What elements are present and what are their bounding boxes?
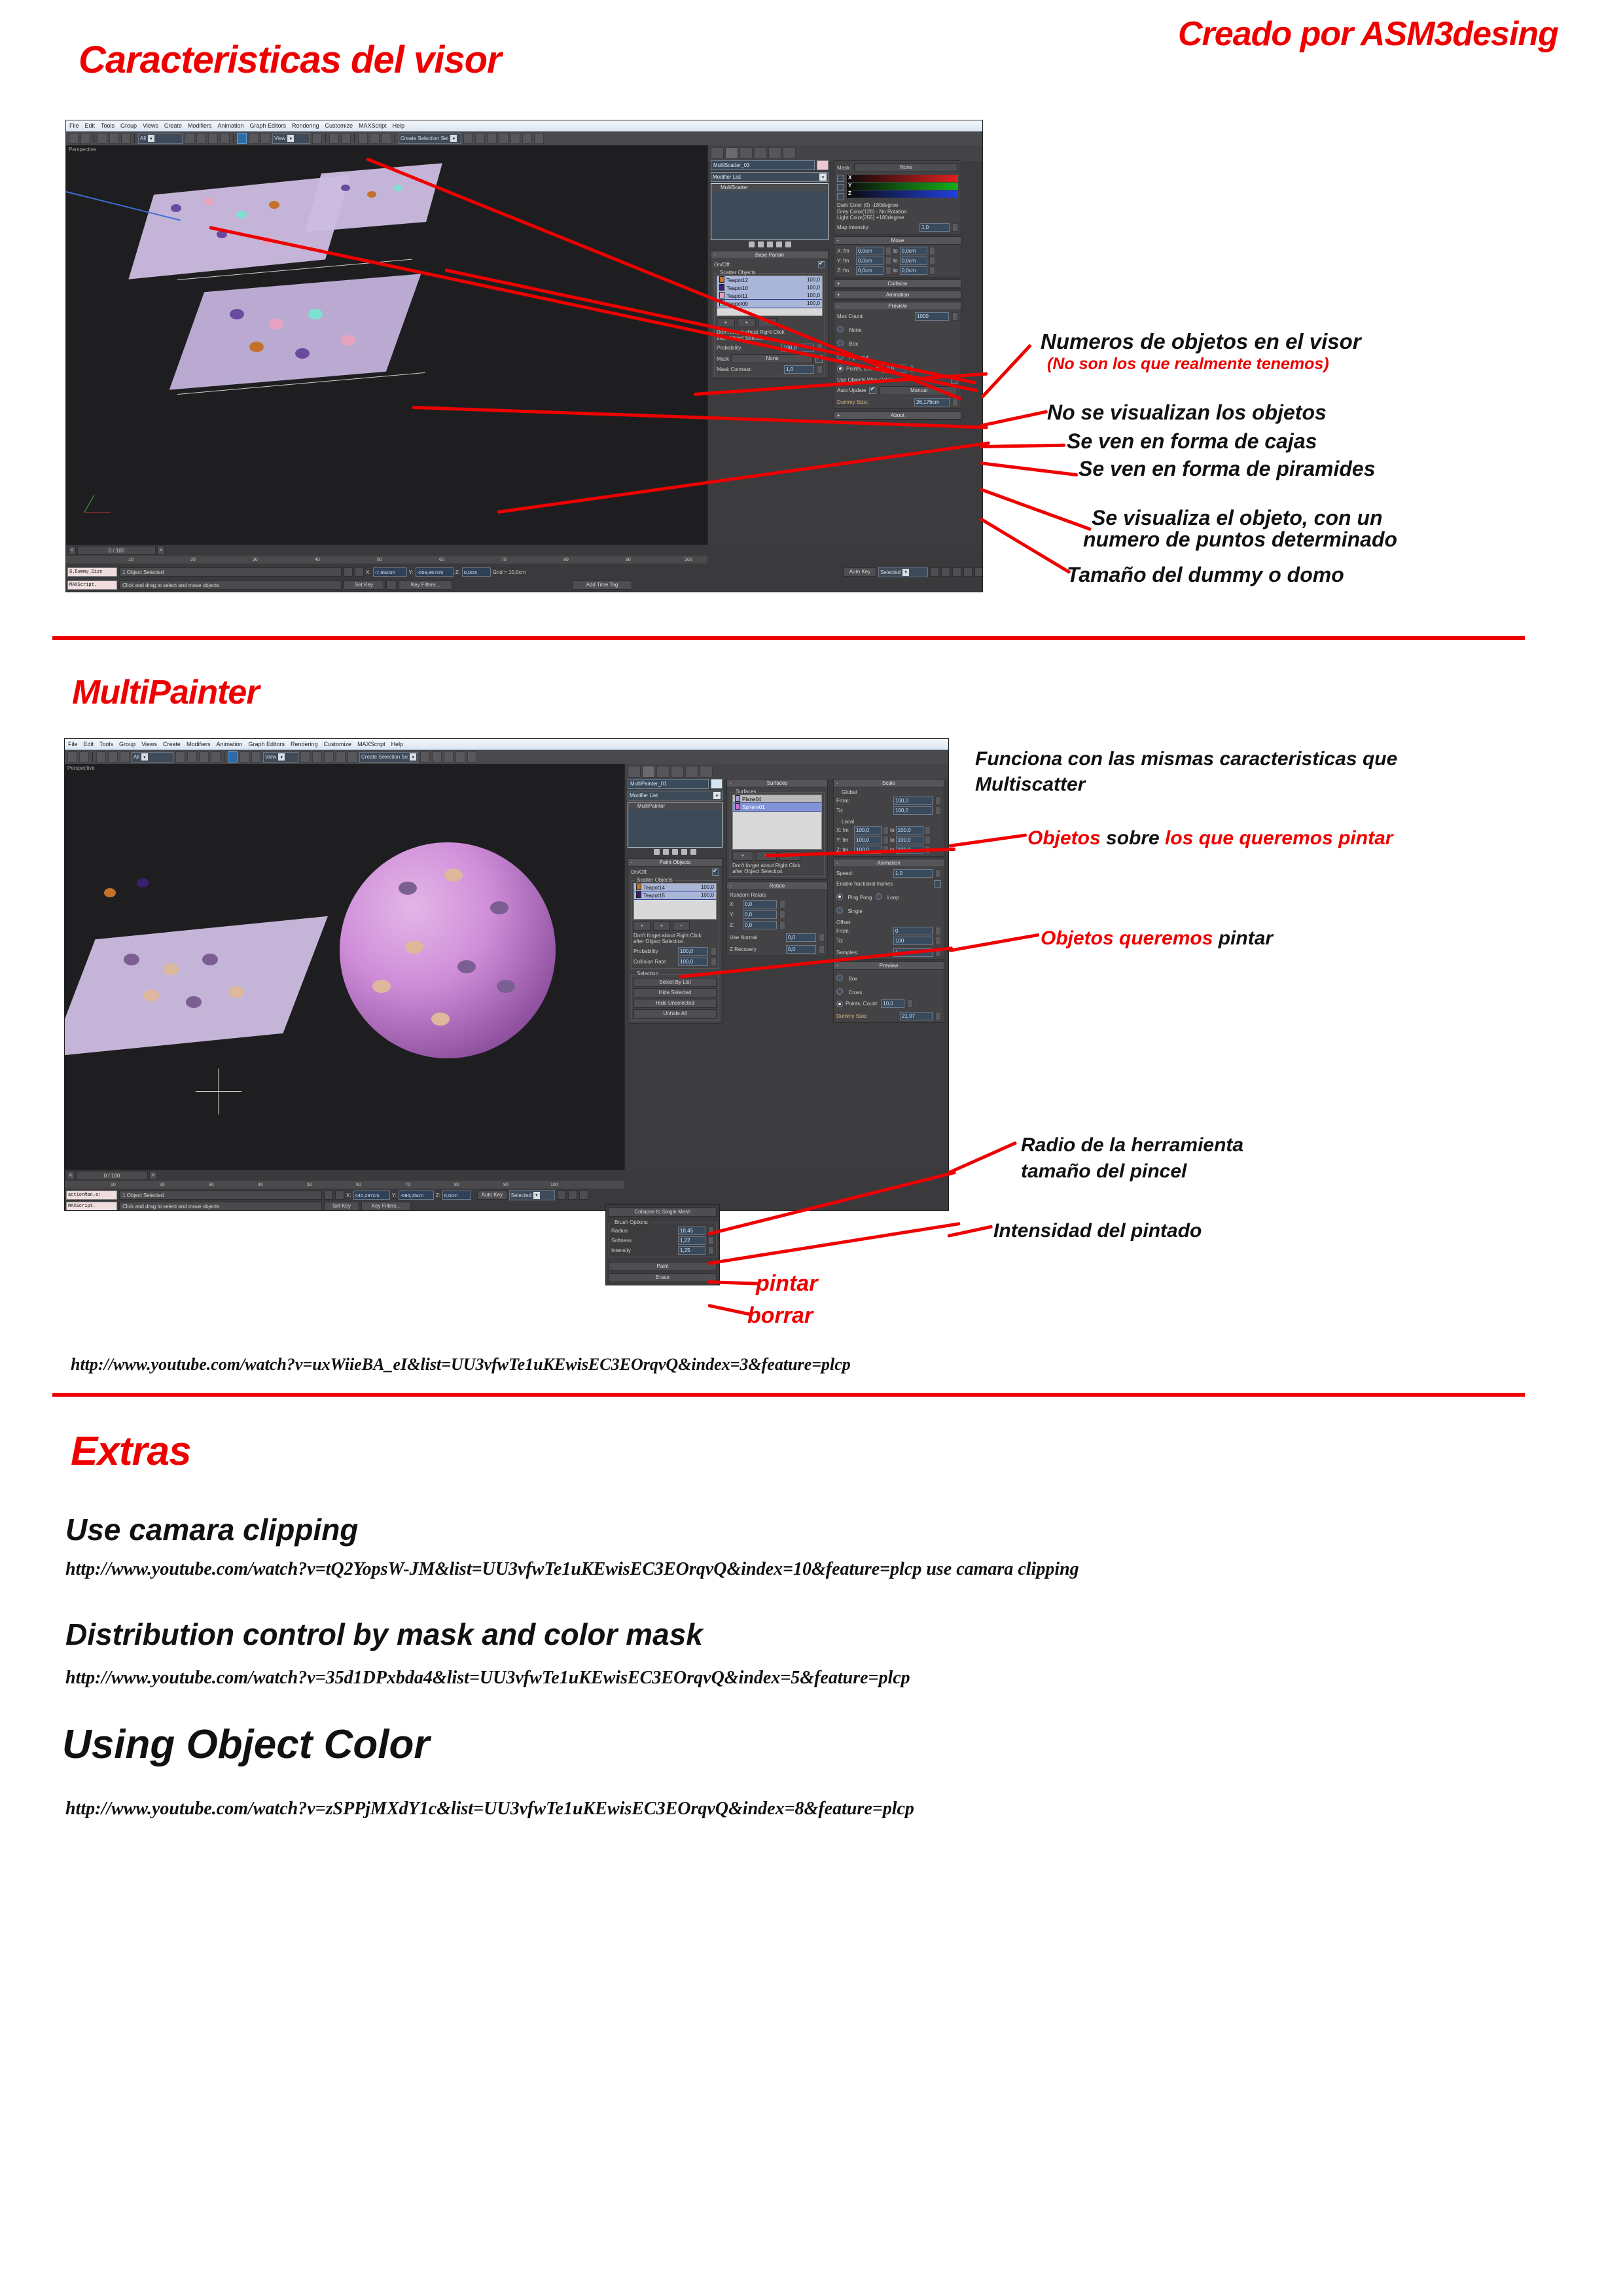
menubar-shot1[interactable]: File Edit Tools Group Views Create Modif… (66, 120, 982, 132)
scale-y-from[interactable]: 100,0 (854, 836, 882, 844)
rollout-header-animation[interactable]: + Animation (834, 291, 961, 299)
coord-z-field[interactable]: 0,0cm (442, 1191, 471, 1200)
viewport-perspective-shot2[interactable]: Perspective (65, 764, 624, 1170)
absolute-relative-icon[interactable] (355, 567, 364, 577)
layer-manager-icon[interactable] (463, 133, 473, 144)
show-end-result-icon[interactable] (758, 242, 764, 247)
rollout-header-animation[interactable]: - Animation (834, 859, 944, 867)
lock-selection-icon[interactable] (344, 567, 353, 577)
menu-file[interactable]: File (68, 741, 78, 747)
rollout-header-collision[interactable]: + Collision (834, 280, 961, 288)
timeline-shot1[interactable]: < 0 / 100 > 10 20 30 40 50 60 70 80 90 1… (66, 545, 707, 566)
preview-none-radio[interactable] (837, 326, 844, 332)
make-unique-icon[interactable] (672, 849, 678, 855)
modifier-stack[interactable]: MultiPainter (628, 802, 722, 848)
next-key-icon[interactable] (963, 567, 972, 577)
key-mode-combo[interactable]: Selected ▾ (509, 1190, 555, 1200)
mask-rot-map-button[interactable]: None (854, 163, 958, 172)
chevron-down-icon[interactable]: ▾ (450, 135, 457, 142)
menu-group[interactable]: Group (120, 122, 137, 129)
prev-key-icon[interactable] (941, 567, 950, 577)
select-and-scale-icon[interactable] (260, 133, 270, 144)
scale-global-from[interactable]: 100,0 (893, 797, 933, 805)
set-key-button[interactable]: Set Key (324, 1202, 359, 1211)
radius-field[interactable]: 18,45 (678, 1227, 705, 1235)
window-crossing-icon[interactable] (211, 751, 221, 762)
main-toolbar-shot1[interactable]: All ▾ View ▾ Create S (66, 132, 982, 146)
rollout-collapse-icon[interactable]: - (836, 860, 838, 866)
extras-url-2[interactable]: http://www.youtube.com/watch?v=35d1DPxbd… (65, 1668, 910, 1689)
object-name-field[interactable]: MultiPainter_01 (628, 779, 709, 789)
select-object-icon[interactable] (175, 751, 185, 762)
curve-editor-icon[interactable] (475, 133, 485, 144)
redo-icon[interactable] (80, 133, 90, 144)
pin-stack-icon[interactable] (749, 242, 755, 247)
modifier-list-dropdown[interactable]: Modifier List ▾ (628, 791, 722, 800)
rotate-z-spinner[interactable] (779, 921, 785, 929)
next-frame-button[interactable]: > (157, 546, 165, 555)
menu-create[interactable]: Create (163, 741, 181, 747)
rollout-rotate[interactable]: - Rotate Random Rotate X: 0,0 Y: 0,0 (726, 882, 828, 956)
add-list-button[interactable]: + (738, 318, 756, 327)
selection-filter-combo[interactable]: All ▾ (132, 752, 173, 762)
configure-sets-icon[interactable] (785, 242, 791, 247)
menu-tools[interactable]: Tools (99, 741, 113, 747)
rollout-paint-objects[interactable]: - Paint Objects On/Off: Scatter Objects (628, 858, 722, 1024)
hide-unselected-button[interactable]: Hide Unselected (633, 999, 717, 1008)
command-panel-tabs[interactable] (708, 145, 983, 161)
menu-tools[interactable]: Tools (101, 122, 115, 129)
use-normal-field[interactable]: 0,0 (786, 933, 816, 942)
points-count-spinner[interactable] (907, 999, 913, 1008)
render-production-icon[interactable] (534, 133, 544, 144)
chevron-down-icon[interactable]: ▾ (819, 173, 827, 181)
rollout-collapse-icon[interactable]: - (837, 303, 839, 309)
menu-graph-editors[interactable]: Graph Editors (248, 741, 285, 747)
rollout-collapse-icon[interactable]: - (730, 780, 732, 786)
collision-rate-spinner[interactable] (711, 958, 717, 966)
redo-icon[interactable] (79, 751, 89, 762)
create-tab-icon[interactable] (628, 766, 641, 778)
pivot-center-icon[interactable] (312, 133, 322, 144)
chevron-down-icon[interactable]: ▾ (902, 569, 909, 576)
intensity-field[interactable]: 1,25 (678, 1246, 705, 1255)
preview-cross-radio[interactable] (836, 988, 843, 995)
pivot-center-icon[interactable] (300, 751, 310, 762)
scale-x-to[interactable]: 100,0 (896, 826, 923, 834)
unlink-icon[interactable] (109, 133, 119, 144)
bind-space-warp-icon[interactable] (120, 751, 130, 762)
coord-x-field[interactable]: 440,297cm (353, 1191, 390, 1200)
render-frame-icon[interactable] (522, 133, 532, 144)
softness-field[interactable]: 1,22 (678, 1236, 705, 1245)
named-selection-set-combo[interactable]: Create Selection Set ▾ (359, 752, 418, 762)
probability-field[interactable]: 100,0 (678, 947, 708, 956)
rollout-about[interactable]: + About (834, 411, 961, 420)
key-mode-combo[interactable]: Selected ▾ (878, 567, 928, 577)
maxscript-mini-listener[interactable]: $.Dummy_Size (67, 567, 117, 577)
menu-modifiers[interactable]: Modifiers (187, 741, 211, 747)
speed-spinner[interactable] (935, 869, 941, 878)
auto-key-button[interactable]: Auto Key (844, 567, 876, 577)
rollout-expand-icon[interactable]: + (837, 292, 840, 298)
go-to-end-icon[interactable] (974, 567, 983, 577)
max-count-field[interactable]: 1000 (915, 312, 949, 321)
curve-editor-icon[interactable] (432, 751, 442, 762)
menu-rendering[interactable]: Rendering (291, 741, 318, 747)
undo-icon[interactable] (67, 751, 77, 762)
configure-sets-icon[interactable] (690, 849, 696, 855)
rollout-collapse-icon[interactable]: - (730, 883, 732, 889)
select-and-rotate-icon[interactable] (249, 133, 259, 144)
timeline-shot2[interactable]: < 0 / 100 > 10 20 30 40 50 60 70 80 90 1… (65, 1170, 624, 1190)
undo-icon[interactable] (69, 133, 79, 144)
move-z-to-spinner[interactable] (929, 266, 935, 275)
select-and-scale-icon[interactable] (251, 751, 261, 762)
rollout-header-about[interactable]: + About (834, 412, 961, 420)
onoff-checkbox[interactable] (818, 261, 825, 268)
anim-offset-from-spinner[interactable] (935, 927, 941, 935)
list-item[interactable]: Teapot14 100,0 (634, 884, 716, 891)
snap-toggle-icon[interactable] (312, 751, 322, 762)
menu-create[interactable]: Create (164, 122, 182, 129)
object-color-swatch[interactable] (817, 160, 829, 170)
menu-edit[interactable]: Edit (84, 741, 94, 747)
anim-offset-from[interactable]: 0 (893, 927, 933, 935)
select-by-name-icon[interactable] (187, 751, 197, 762)
selection-filter-combo[interactable]: All ▾ (138, 134, 183, 144)
schematic-view-icon[interactable] (487, 133, 497, 144)
preview-box-radio[interactable] (837, 340, 844, 346)
add-object-button[interactable]: + (717, 318, 735, 327)
onoff-checkbox[interactable] (712, 869, 719, 876)
next-frame-button[interactable]: > (149, 1171, 157, 1180)
auto-update-checkbox[interactable] (869, 387, 876, 394)
preview-points-radio[interactable] (836, 1001, 843, 1007)
prev-frame-button[interactable]: < (68, 546, 76, 555)
speed-field[interactable]: 1,0 (893, 869, 933, 878)
scale-y-to-spinner[interactable] (925, 836, 931, 844)
absolute-relative-icon[interactable] (335, 1191, 344, 1200)
rollout-header-base-param[interactable]: - Base Param (711, 251, 828, 259)
rollout-collapse-icon[interactable]: - (714, 252, 716, 258)
dummy-size-field[interactable]: 26,176cm (914, 398, 950, 406)
add-list-button[interactable]: + (653, 922, 670, 931)
menu-graph-editors[interactable]: Graph Editors (249, 122, 286, 129)
rollout-move[interactable]: - Move X: fm 0,0cm to 0,0cm (834, 236, 961, 278)
menu-file[interactable]: File (69, 122, 79, 129)
single-radio[interactable] (836, 907, 843, 914)
rollout-scale[interactable]: - Scale Global From: 100,0 To: 100,0 (833, 779, 944, 857)
anim-offset-to-spinner[interactable] (935, 937, 941, 945)
chevron-down-icon[interactable]: ▾ (533, 1192, 540, 1199)
modifier-stack-toolbar[interactable] (628, 848, 722, 856)
modify-tab-icon[interactable] (642, 766, 655, 778)
coord-y-field[interactable]: -659,967cm (416, 567, 454, 577)
scale-x-from[interactable]: 100,0 (854, 826, 882, 834)
rollout-collapse-icon[interactable]: - (836, 780, 838, 786)
rollout-collision[interactable]: + Collision (834, 279, 961, 289)
add-surface-button[interactable]: + (732, 852, 753, 861)
softness-spinner[interactable] (708, 1236, 714, 1245)
hide-selected-button[interactable]: Hide Selected (633, 988, 717, 997)
mirror-icon[interactable] (336, 751, 346, 762)
loop-radio[interactable] (876, 893, 882, 900)
preview-box-radio[interactable] (836, 975, 843, 981)
move-z-from[interactable]: 0,0cm (856, 266, 883, 275)
rollout-animation[interactable]: + Animation (834, 291, 961, 300)
utilities-tab-icon[interactable] (700, 766, 713, 778)
dummy-size-spinner[interactable] (935, 1012, 941, 1020)
scatter-objects-list[interactable]: Teapot12 100,0 Teapot10 100,0 Teapot11 1… (717, 276, 823, 316)
key-filters-icon[interactable] (386, 581, 397, 590)
use-normal-spinner[interactable] (819, 933, 825, 942)
menu-customize[interactable]: Customize (325, 122, 353, 129)
scale-x-from-spinner[interactable] (883, 826, 889, 834)
move-x-to[interactable]: 0,0cm (900, 247, 927, 255)
rollout-header-preview[interactable]: - Preview (834, 302, 961, 310)
extras-url-3[interactable]: http://www.youtube.com/watch?v=zSPPjMXdY… (65, 1799, 914, 1820)
render-setup-icon[interactable] (455, 751, 465, 762)
menu-customize[interactable]: Customize (324, 741, 352, 747)
video-url-multipainter[interactable]: http://www.youtube.com/watch?v=uxWiieBA_… (71, 1355, 851, 1374)
rotate-y-field[interactable]: 0,0 (743, 910, 777, 919)
select-region-icon[interactable] (199, 751, 209, 762)
hierarchy-tab-icon[interactable] (740, 147, 753, 159)
main-toolbar-shot2[interactable]: All ▾ View ▾ Create Selection Set ▾ (65, 750, 948, 764)
rollout-collapse-icon[interactable]: - (631, 859, 633, 865)
bind-space-warp-icon[interactable] (121, 133, 131, 144)
rotate-y-spinner[interactable] (779, 910, 785, 919)
scale-global-to-spinner[interactable] (935, 806, 941, 815)
list-item[interactable]: Teapot15 100,0 (634, 891, 716, 899)
move-y-to[interactable]: 0,0cm (900, 257, 927, 265)
render-setup-icon[interactable] (510, 133, 520, 144)
rollout-header-surfaces[interactable]: - Surfaces (727, 780, 827, 787)
utilities-tab-icon[interactable] (783, 147, 796, 159)
reference-coord-combo[interactable]: View ▾ (272, 134, 310, 144)
pingpong-radio[interactable] (836, 893, 843, 900)
menu-help[interactable]: Help (393, 122, 405, 129)
axis-z-checkbox[interactable] (837, 193, 844, 200)
dummy-size-field[interactable]: 21,07 (900, 1012, 933, 1020)
modify-tab-icon[interactable] (725, 147, 738, 159)
anim-offset-to[interactable]: 100 (893, 937, 933, 945)
menu-help[interactable]: Help (391, 741, 404, 747)
list-item[interactable]: Teapot10 100,0 (717, 284, 822, 292)
auto-key-button[interactable]: Auto Key (477, 1191, 507, 1200)
rollout-animation-shot2[interactable]: - Animation Speed: 1,0 Enable fractional… (833, 859, 944, 960)
remove-modifier-icon[interactable] (776, 242, 782, 247)
points-count-field[interactable]: 10,0 (881, 999, 904, 1008)
select-object-icon[interactable] (185, 133, 194, 144)
chevron-down-icon[interactable]: ▾ (713, 792, 721, 799)
play-animation-icon[interactable] (568, 1191, 577, 1200)
rollout-collapse-icon[interactable]: - (836, 963, 838, 969)
menu-animation[interactable]: Animation (216, 741, 242, 747)
object-color-swatch[interactable] (711, 779, 722, 789)
display-tab-icon[interactable] (768, 147, 781, 159)
rollout-preview-shot2[interactable]: - Preview Box Cross Points, Count: 10,0 (833, 961, 944, 1023)
rollout-header-scale[interactable]: - Scale (834, 780, 944, 787)
menu-maxscript[interactable]: MAXScript (359, 122, 387, 129)
remove-modifier-icon[interactable] (681, 849, 687, 855)
z-recovery-field[interactable]: 0,0 (786, 945, 816, 954)
rollout-expand-icon[interactable]: + (837, 281, 840, 287)
go-to-start-icon[interactable] (930, 567, 939, 577)
align-icon[interactable] (348, 751, 357, 762)
named-selection-icon[interactable] (358, 133, 368, 144)
pin-stack-icon[interactable] (654, 849, 660, 855)
layer-manager-icon[interactable] (420, 751, 430, 762)
menu-views[interactable]: Views (143, 122, 158, 129)
lock-selection-icon[interactable] (324, 1191, 333, 1200)
rollout-header-paint-objects[interactable]: - Paint Objects (628, 859, 722, 867)
coord-x-field[interactable]: -7,692cm (373, 567, 407, 577)
rotate-z-field[interactable]: 0,0 (743, 921, 777, 929)
modifier-stack-item[interactable]: MultiScatter (711, 184, 828, 191)
chevron-down-icon[interactable]: ▾ (148, 135, 154, 142)
modifier-stack-toolbar[interactable] (711, 240, 829, 249)
rollout-base-param[interactable]: - Base Param On/Off: Scatter Objects (711, 251, 829, 379)
mask-map-button[interactable]: None (732, 354, 813, 363)
move-x-from-spinner[interactable] (885, 247, 891, 255)
max-count-spinner[interactable] (952, 312, 958, 321)
scale-global-to[interactable]: 100,0 (893, 806, 933, 815)
map-intensity-spinner[interactable] (952, 223, 958, 232)
object-name-field[interactable]: MultiScatter_03 (711, 160, 815, 170)
set-key-button[interactable]: Set Key (344, 581, 384, 590)
mask-contrast-spinner[interactable] (817, 365, 823, 374)
make-unique-icon[interactable] (767, 242, 773, 247)
prev-frame-button[interactable]: < (67, 1171, 75, 1180)
select-by-list-button[interactable]: Select By List (633, 978, 717, 987)
chevron-down-icon[interactable]: ▾ (410, 753, 416, 761)
select-and-move-icon[interactable] (237, 133, 247, 144)
rollout-header-rotate[interactable]: - Rotate (727, 882, 827, 890)
scale-global-from-spinner[interactable] (935, 797, 941, 805)
coord-z-field[interactable]: 0,0cm (462, 567, 491, 577)
coord-y-field[interactable]: -694,25cm (399, 1191, 434, 1200)
angle-snap-icon[interactable] (324, 751, 334, 762)
key-filters-button[interactable]: Key Filters... (361, 1202, 411, 1211)
list-item[interactable]: Teapot12 100,0 (717, 276, 822, 284)
unhide-all-button[interactable]: Unhide All (633, 1009, 717, 1018)
hierarchy-tab-icon[interactable] (656, 766, 669, 778)
move-y-to-spinner[interactable] (929, 257, 935, 265)
rollout-collapse-icon[interactable]: - (837, 238, 839, 243)
paint-objects-list[interactable]: Teapot14 100,0 Teapot15 100,0 (633, 883, 717, 920)
move-x-from[interactable]: 0,0cm (856, 247, 883, 255)
select-by-name-icon[interactable] (196, 133, 206, 144)
modifier-stack[interactable]: MultiScatter (711, 183, 829, 240)
list-item[interactable]: Teapot11 100,0 (717, 292, 822, 300)
probability-spinner[interactable] (711, 947, 717, 956)
viewport-perspective-shot1[interactable]: Perspective (66, 145, 707, 545)
unlink-icon[interactable] (108, 751, 118, 762)
select-and-rotate-icon[interactable] (240, 751, 249, 762)
mirror-icon[interactable] (370, 133, 380, 144)
menu-group[interactable]: Group (119, 741, 135, 747)
command-panel-tabs[interactable] (625, 764, 949, 780)
fractional-frames-checkbox[interactable] (934, 880, 941, 888)
move-z-from-spinner[interactable] (885, 266, 891, 275)
rollout-expand-icon[interactable]: + (837, 412, 840, 418)
move-y-from[interactable]: 0,0cm (856, 257, 883, 265)
rotate-x-field[interactable]: 0,0 (743, 900, 777, 908)
map-intensity-field[interactable]: 1,0 (919, 223, 950, 232)
rollout-header-preview[interactable]: - Preview (834, 962, 944, 970)
z-recovery-spinner[interactable] (819, 945, 825, 954)
extras-url-1[interactable]: http://www.youtube.com/watch?v=tQ2YopsW-… (65, 1559, 1079, 1580)
go-to-start-icon[interactable] (557, 1191, 566, 1200)
intensity-spinner[interactable] (708, 1246, 714, 1255)
axis-y-checkbox[interactable] (837, 184, 844, 191)
rotate-x-spinner[interactable] (779, 900, 785, 908)
menu-animation[interactable]: Animation (217, 122, 243, 129)
chevron-down-icon[interactable]: ▾ (278, 753, 285, 761)
menu-rendering[interactable]: Rendering (292, 122, 319, 129)
rollout-header-move[interactable]: - Move (834, 237, 961, 245)
select-link-icon[interactable] (98, 133, 107, 144)
maxscript-mini-listener[interactable]: actionMan.e: (66, 1191, 117, 1200)
menu-views[interactable]: Views (141, 741, 157, 747)
move-x-to-spinner[interactable] (929, 247, 935, 255)
align-icon[interactable] (382, 133, 391, 144)
render-production-icon[interactable] (467, 751, 477, 762)
select-region-icon[interactable] (208, 133, 218, 144)
reference-coord-combo[interactable]: View ▾ (263, 752, 298, 762)
show-end-result-icon[interactable] (663, 849, 669, 855)
named-selection-set-combo[interactable]: Create Selection Set ▾ (399, 134, 461, 144)
menu-modifiers[interactable]: Modifiers (188, 122, 212, 129)
move-y-from-spinner[interactable] (885, 257, 891, 265)
remove-object-button[interactable]: − (673, 922, 690, 931)
chevron-down-icon[interactable]: ▾ (141, 753, 148, 761)
track-ruler[interactable]: 10 20 30 40 50 60 70 80 90 100 (66, 556, 707, 564)
display-tab-icon[interactable] (685, 766, 698, 778)
move-z-to[interactable]: 0,0cm (900, 266, 927, 275)
key-filters-button[interactable]: Key Filters... (399, 581, 452, 590)
collapse-to-single-mesh-button[interactable]: Collapse to Single Mesh (609, 1208, 717, 1217)
chevron-down-icon[interactable]: ▾ (287, 135, 294, 142)
scale-y-from-spinner[interactable] (883, 836, 889, 844)
select-link-icon[interactable] (96, 751, 106, 762)
motion-tab-icon[interactable] (754, 147, 767, 159)
menu-edit[interactable]: Edit (85, 122, 96, 129)
list-item[interactable]: Plane04 (733, 795, 821, 803)
track-ruler[interactable]: 10 20 30 40 50 60 70 80 90 100 (65, 1181, 624, 1189)
window-crossing-icon[interactable] (220, 133, 230, 144)
menubar-shot2[interactable]: File Edit Tools Group Views Create Modif… (65, 739, 948, 750)
rollout-surfaces[interactable]: - Surfaces Surfaces Plane04 Sphere01 (726, 779, 828, 880)
scale-x-to-spinner[interactable] (925, 826, 931, 834)
add-time-tag-button[interactable]: Add Time Tag (572, 581, 632, 590)
create-tab-icon[interactable] (711, 147, 724, 159)
menu-maxscript[interactable]: MAXScript (357, 741, 385, 747)
snap-toggle-icon[interactable] (329, 133, 339, 144)
angle-snap-icon[interactable] (341, 133, 351, 144)
axis-x-checkbox[interactable] (837, 175, 844, 182)
paint-button[interactable]: Paint (609, 1262, 717, 1271)
modifier-stack-item[interactable]: MultiPainter (628, 802, 722, 810)
modifier-list-dropdown[interactable]: Modifier List ▾ (711, 172, 829, 182)
surfaces-list[interactable]: Plane04 Sphere01 (732, 795, 822, 850)
motion-tab-icon[interactable] (671, 766, 684, 778)
scale-y-to[interactable]: 100,0 (896, 836, 923, 844)
play-animation-icon[interactable] (952, 567, 961, 577)
add-object-button[interactable]: + (633, 922, 651, 931)
